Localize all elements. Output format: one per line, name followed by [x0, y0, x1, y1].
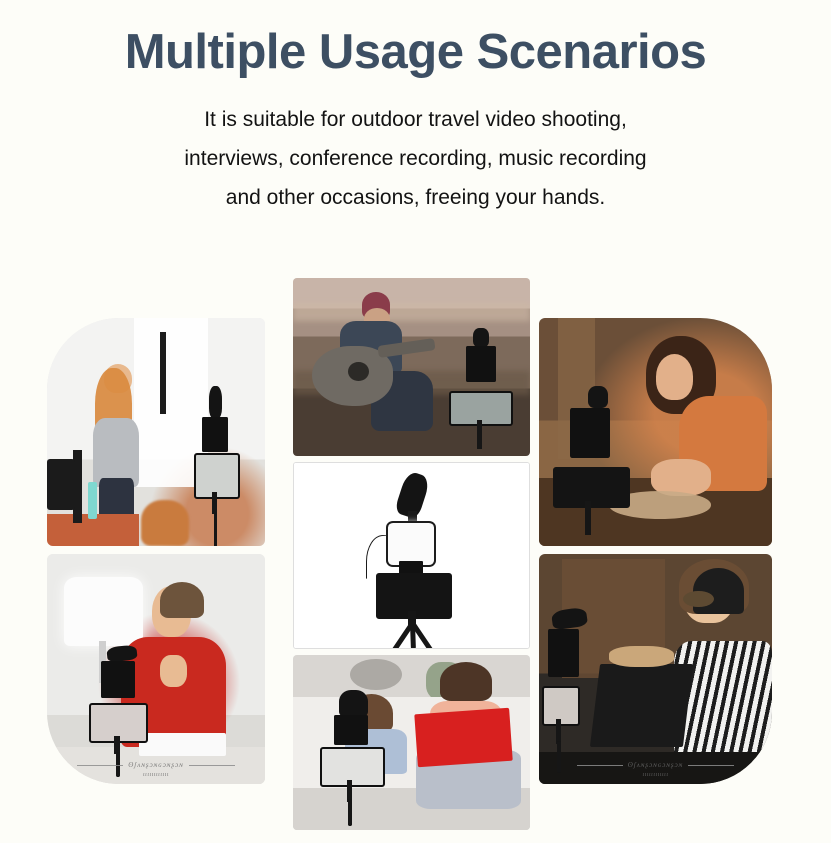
- desk-scene-image: [47, 554, 265, 784]
- scenario-tile-product: [293, 462, 530, 649]
- tile-caption-desk: ʘʃʌɴʂɔɴɢɔɴʂɔɴ ɩɩɩɩɩɩɩɩɩɩɩɩ: [47, 761, 265, 778]
- scenario-tile-craft: [539, 318, 772, 546]
- product-photo-image: [294, 463, 529, 648]
- page-title: Multiple Usage Scenarios: [0, 26, 831, 79]
- scenario-tile-office: [47, 318, 265, 546]
- caption-rule-right: [189, 765, 235, 766]
- header: Multiple Usage Scenarios It is suitable …: [0, 0, 831, 217]
- couch-scene-image: [293, 655, 530, 830]
- caption-rule-left: [577, 765, 623, 766]
- caption-rule-left: [77, 765, 123, 766]
- scenario-tile-couch: [293, 655, 530, 830]
- guitar-scene-image: [293, 278, 530, 456]
- vlogging-kit-product: [342, 473, 482, 641]
- craft-scene-image: [539, 318, 772, 546]
- office-scene-image: [47, 318, 265, 546]
- subtitle-line-1: It is suitable for outdoor travel video …: [126, 101, 706, 140]
- scenario-collage: ʘʃʌɴʂɔɴɢɔɴʂɔɴ ɩɩɩɩɩɩɩɩɩɩɩɩ: [0, 262, 831, 843]
- scenario-tile-podcast: ʘʃʌɴʂɔɴɢɔɴʂɔɴ ɩɩɩɩɩɩɩɩɩɩɩɩ: [539, 554, 772, 784]
- page-subtitle: It is suitable for outdoor travel video …: [126, 101, 706, 218]
- tile-caption-podcast: ʘʃʌɴʂɔɴɢɔɴʂɔɴ ɩɩɩɩɩɩɩɩɩɩɩɩ: [539, 761, 772, 778]
- caption-script-mark: ʘʃʌɴʂɔɴɢɔɴʂɔɴ: [128, 761, 184, 769]
- caption-rule-right: [688, 765, 734, 766]
- subtitle-line-2: interviews, conference recording, music …: [126, 140, 706, 179]
- subtitle-line-3: and other occasions, freeing your hands.: [126, 179, 706, 218]
- caption-script-mark: ʘʃʌɴʂɔɴɢɔɴʂɔɴ: [628, 761, 684, 769]
- podcast-scene-image: [539, 554, 772, 784]
- caption-script-submark: ɩɩɩɩɩɩɩɩɩɩɩɩ: [47, 772, 265, 778]
- scenario-tile-desk: ʘʃʌɴʂɔɴɢɔɴʂɔɴ ɩɩɩɩɩɩɩɩɩɩɩɩ: [47, 554, 265, 784]
- scenario-tile-guitar: [293, 278, 530, 456]
- caption-script-submark: ɩɩɩɩɩɩɩɩɩɩɩɩ: [539, 772, 772, 778]
